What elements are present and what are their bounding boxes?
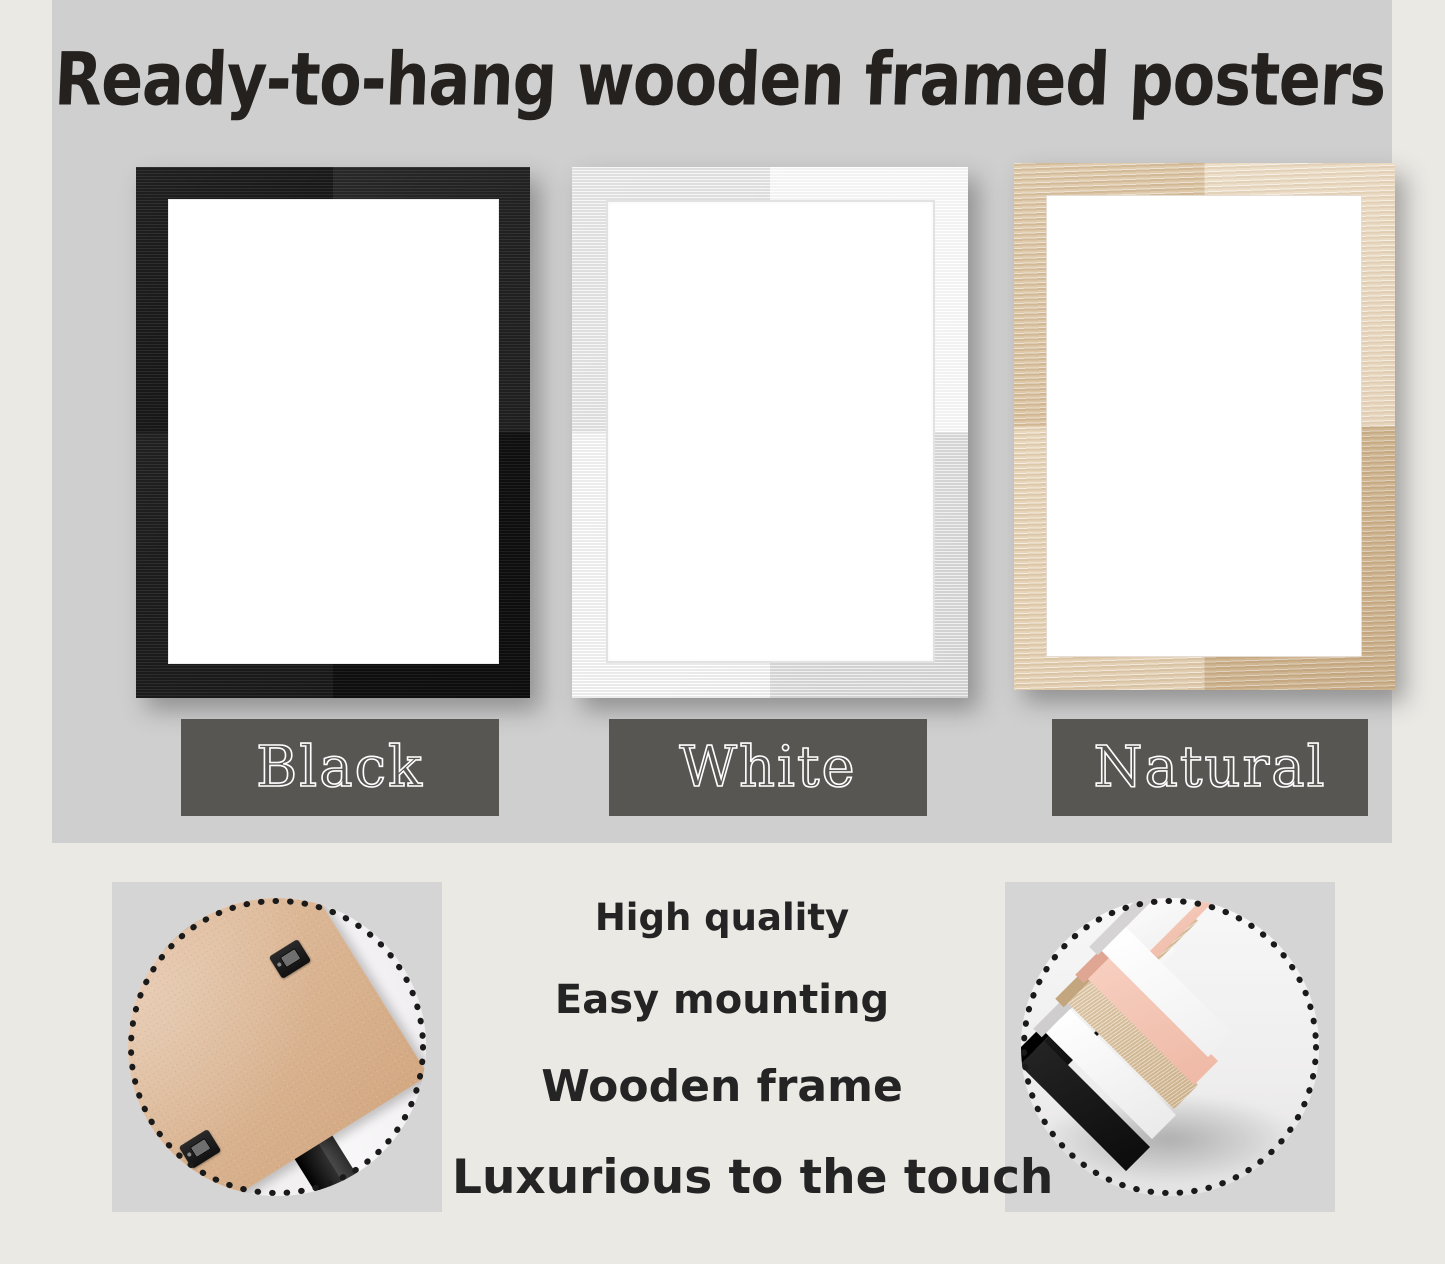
poster-art-area-black	[168, 199, 499, 664]
feature-item-high-quality: High quality	[452, 896, 992, 939]
frame-preview-black[interactable]	[136, 167, 530, 698]
feature-item-luxurious-to-the-touch: Luxurious to the touch	[452, 1150, 992, 1205]
poster-art-area-natural	[1046, 195, 1362, 657]
feature-item-easy-mounting: Easy mounting	[452, 977, 992, 1023]
frame-back-photo	[128, 898, 426, 1196]
feature-item-wooden-frame: Wooden frame	[452, 1061, 992, 1112]
page-title: Ready-to-hang wooden framed posters	[48, 36, 1392, 122]
frame-preview-white[interactable]	[572, 167, 968, 698]
frame-back-photo-panel	[112, 882, 442, 1212]
frame-corner-stack-photo-panel	[1005, 882, 1335, 1212]
frame-label-text-white: White	[679, 735, 856, 800]
frame-label-text-black: Black	[256, 735, 424, 800]
frame-showcase-panel: Ready-to-hang wooden framed posters Blac…	[52, 0, 1392, 843]
frame-label-white: White	[609, 719, 927, 816]
frame-label-text-natural: Natural	[1093, 735, 1326, 800]
frame-label-natural: Natural	[1052, 719, 1368, 816]
frame-corner-stack-photo	[1021, 898, 1319, 1196]
frame-stack-scene	[1021, 898, 1319, 1196]
frame-preview-natural[interactable]	[1014, 163, 1395, 690]
poster-art-area-white	[606, 200, 935, 663]
product-infographic: Ready-to-hang wooden framed posters Blac…	[0, 0, 1445, 1264]
feature-list: High quality Easy mounting Wooden frame …	[452, 884, 992, 1205]
mdf-backboard-scene	[128, 898, 426, 1196]
frame-label-black: Black	[181, 719, 499, 816]
